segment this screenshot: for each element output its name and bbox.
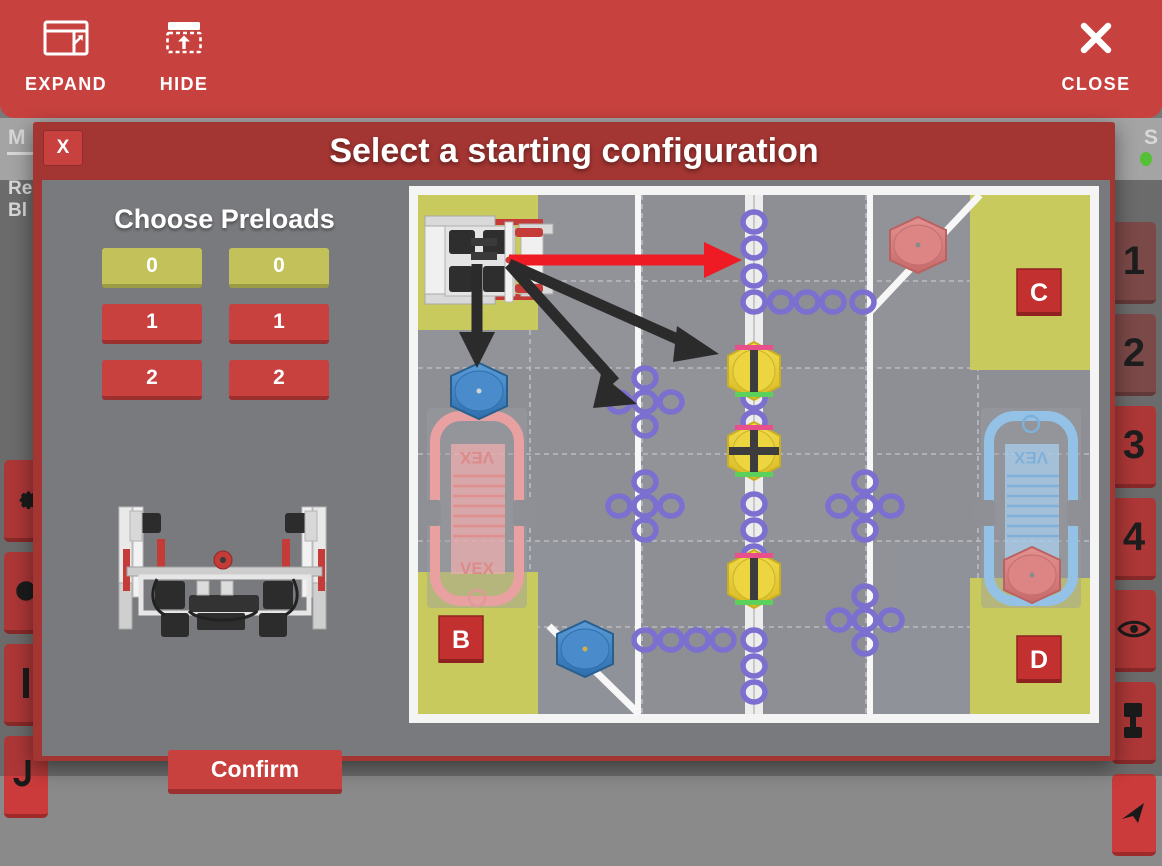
svg-text:B: B [452,626,470,654]
dialog-title-bar: X Select a starting configuration [37,126,1111,180]
blue-goal-upper-left [451,363,507,419]
yellow-goal-bottom [728,550,780,608]
svg-text:VEX: VEX [460,559,495,578]
preload-pane: Choose Preloads 0 1 2 0 1 2 [42,180,407,756]
preload-column-right: 0 1 2 [229,248,329,400]
preload-right-option-0[interactable]: 0 [229,248,329,288]
top-toolbar: EXPAND HIDE CLOSE [0,0,1162,118]
svg-text:VEX: VEX [1013,448,1048,467]
dialog-title: Select a starting configuration [37,132,1111,171]
hide-panel-icon [164,16,204,60]
preload-left-option-1[interactable]: 1 [102,304,202,344]
field-pane: VEX VEX [407,180,1110,756]
preload-column-left: 0 1 2 [102,248,202,400]
expand-button-label: EXPAND [25,74,107,95]
svg-text:D: D [1030,646,1048,674]
expand-button[interactable]: EXPAND [22,16,110,95]
preload-right-option-1[interactable]: 1 [229,304,329,344]
svg-text:VEX: VEX [459,448,494,467]
red-park-structure: VEX VEX [419,408,535,608]
close-button-label: CLOSE [1061,74,1130,95]
preload-button-grid: 0 1 2 0 1 2 [102,248,329,400]
pointer-icon-button[interactable] [1112,774,1156,856]
preload-left-option-2[interactable]: 2 [102,360,202,400]
blue-goal-lower-left [557,621,613,677]
svg-text:C: C [1030,279,1048,307]
hide-button-label: HIDE [160,74,209,95]
preload-right-option-2[interactable]: 2 [229,360,329,400]
hide-button[interactable]: HIDE [140,16,228,95]
red-goal-lower-right [1004,547,1060,603]
field-preview[interactable]: VEX VEX [409,186,1099,723]
close-button[interactable]: CLOSE [1048,16,1144,95]
robot-preview-image [97,505,352,640]
choose-preloads-heading: Choose Preloads [42,204,407,235]
preload-left-option-0[interactable]: 0 [102,248,202,288]
position-marker-C: C [1017,269,1061,316]
pointer-icon [1118,799,1150,827]
position-marker-B: B [439,616,483,663]
red-goal-upper-right [890,217,946,273]
yellow-goal-top [728,342,780,400]
close-x-icon [1076,16,1116,60]
dialog-body: Choose Preloads 0 1 2 0 1 2 [42,180,1110,756]
expand-window-icon [43,16,89,60]
position-marker-D: D [1017,636,1061,683]
confirm-button[interactable]: Confirm [168,750,342,794]
yellow-goal-center [728,422,780,480]
starting-configuration-dialog: X Select a starting configuration Choose… [33,122,1115,761]
